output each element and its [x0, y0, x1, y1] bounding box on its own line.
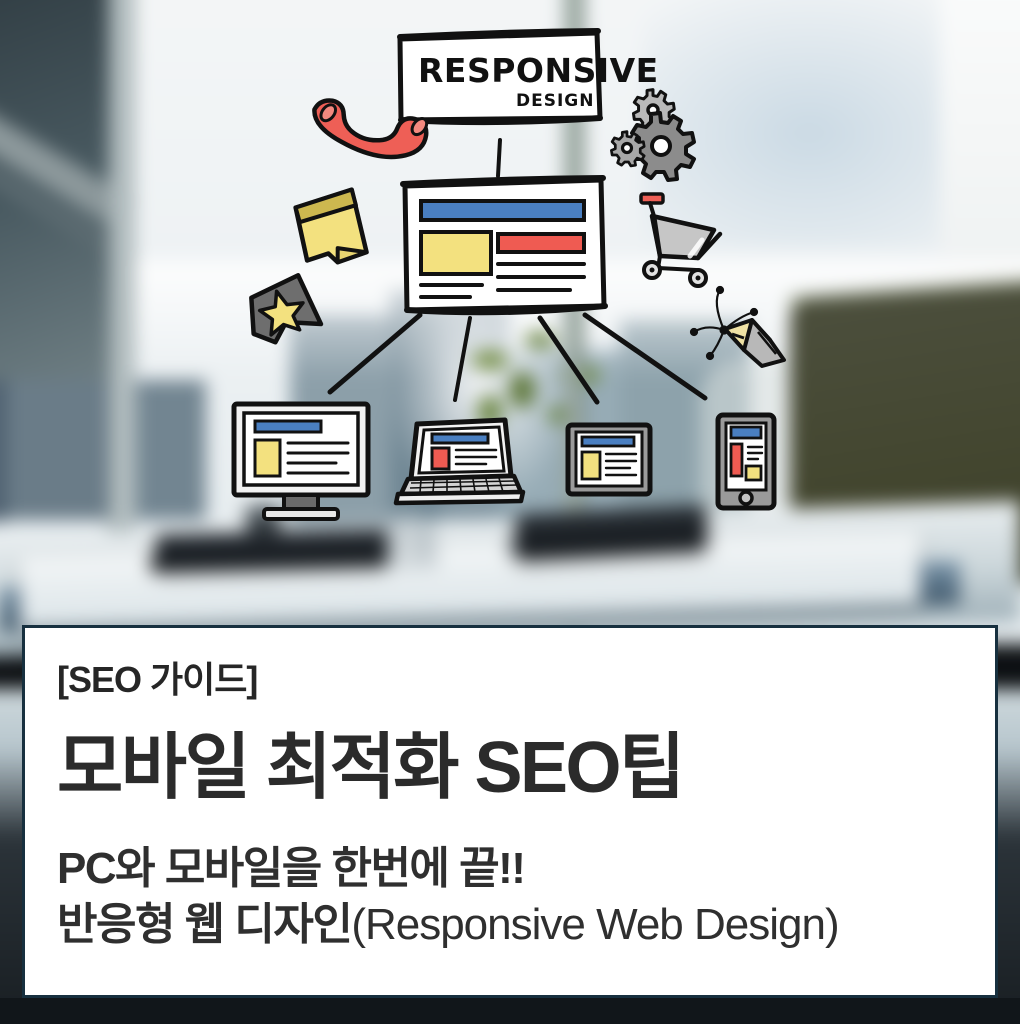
- sticky-note-icon: [294, 189, 367, 267]
- mockup-header-bar: [421, 201, 584, 220]
- tablet-block-yellow: [582, 452, 600, 479]
- responsive-design-illustration: RESPONSIVE DESIGN: [0, 0, 1020, 640]
- laptop-block-red: [432, 448, 449, 469]
- laptop-header-bar: [432, 434, 488, 443]
- label-subtitle: DESIGN: [516, 91, 594, 111]
- responsive-design-label-box: RESPONSIVE DESIGN: [400, 31, 659, 122]
- device-laptop: [396, 420, 523, 503]
- label-title: RESPONSIVE: [418, 51, 659, 90]
- device-desktop-monitor: [234, 404, 368, 519]
- device-tablet: [568, 425, 650, 494]
- card-subtitle-line-2-english: (Responsive Web Design): [351, 900, 838, 949]
- smartphone-block-red: [731, 444, 742, 476]
- mockup-block-yellow: [421, 232, 491, 274]
- poster-root: RESPONSIVE DESIGN: [0, 0, 1020, 1024]
- card-subtitle-line-2: 반응형 웹 디자인(Responsive Web Design): [57, 898, 965, 952]
- title-card: [SEO 가이드] 모바일 최적화 SEO팁 PC와 모바일을 한번에 끝!! …: [22, 625, 998, 998]
- smartphone-header-bar: [731, 427, 761, 438]
- star-tag-icon: [245, 273, 323, 346]
- tablet-header-bar: [582, 437, 634, 446]
- mockup-block-red: [498, 234, 584, 252]
- smartphone-block-yellow: [746, 466, 761, 480]
- device-smartphone: [718, 415, 774, 508]
- monitor-header-bar: [255, 421, 321, 432]
- monitor-block-yellow: [255, 440, 280, 476]
- card-subtitle-line-2-korean: 반응형 웹 디자인: [57, 900, 351, 949]
- center-website-mockup: [403, 178, 605, 312]
- card-headline: 모바일 최적화 SEO팁: [57, 732, 965, 804]
- smartphone-home-button: [740, 492, 752, 504]
- pen-nib-icon: [691, 287, 784, 366]
- gears-icon: [611, 90, 694, 180]
- card-subtitle-line-1: PC와 모바일을 한번에 끝!!: [57, 842, 965, 896]
- bottom-bar: [0, 998, 1020, 1024]
- card-kicker: [SEO 가이드]: [57, 662, 965, 698]
- monitor-base: [264, 509, 338, 519]
- shopping-cart-icon: [641, 194, 720, 286]
- laptop-base: [396, 492, 523, 503]
